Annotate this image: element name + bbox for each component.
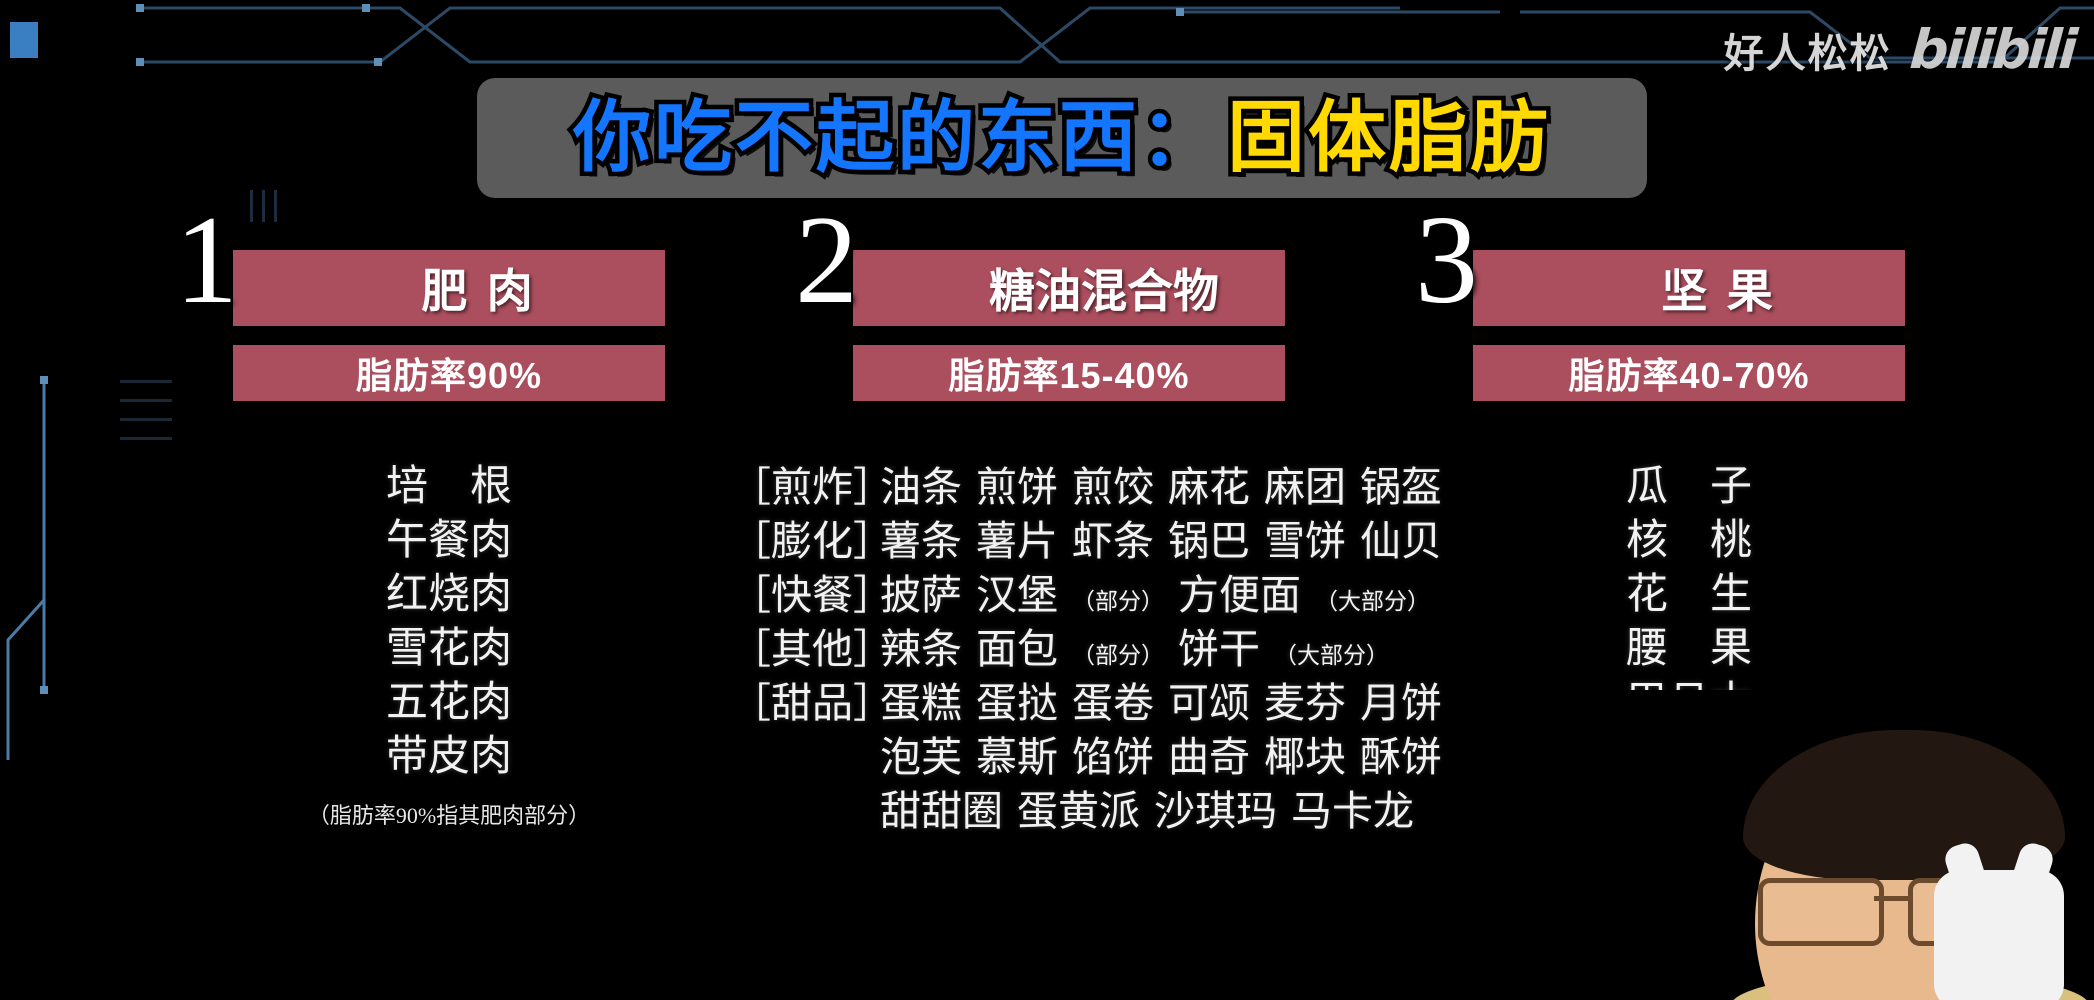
category-number: 3 xyxy=(1415,198,1478,324)
item-name: 辣条 xyxy=(880,626,962,672)
list-item: ［其他］辣条面包（部分）饼干（大部分） xyxy=(730,622,1450,676)
video-frame: 好人松松 bilibili 你吃不起的东西： 固体脂肪 1 肥 肉 脂肪率90%… xyxy=(0,0,2094,1000)
item-category-tag: ［其他］ xyxy=(730,622,880,676)
accent-square-icon xyxy=(10,22,38,58)
item-name: 慕斯 xyxy=(976,734,1058,780)
list-item: 瓜 子 xyxy=(1473,460,1905,514)
list-item: ［煎炸］油条煎饼煎饺麻花麻团锅盔 xyxy=(730,460,1450,514)
item-name: 煎饺 xyxy=(1072,464,1154,510)
list-item: ［甜品］蛋糕蛋挞蛋卷可颂麦芬月饼 xyxy=(730,676,1450,730)
item-name: 饼干 xyxy=(1178,626,1260,672)
category-label: 糖油混合物 xyxy=(853,250,1285,326)
item-name: 油条 xyxy=(880,464,962,510)
item-qualifier: （部分） xyxy=(1072,589,1164,614)
item-name: 披萨 xyxy=(880,572,962,618)
category-label: 坚 果 xyxy=(1473,250,1905,326)
title-part-topic: 固体脂肪 xyxy=(1227,99,1551,177)
item-name: 甜甜圈 xyxy=(880,788,1003,834)
item-name: 月饼 xyxy=(1360,680,1442,726)
item-name: 蛋黄派 xyxy=(1017,788,1140,834)
item-category-tag: ［膨化］ xyxy=(730,514,880,568)
item-name: 馅饼 xyxy=(1072,734,1154,780)
item-name: 泡芙 xyxy=(880,734,962,780)
tick-marks-vertical xyxy=(250,190,277,222)
item-name: 沙琪玛 xyxy=(1154,788,1277,834)
glasses-lens-left xyxy=(1758,878,1884,946)
footnote: （脂肪率90%指其肥肉部分） xyxy=(233,798,665,830)
item-list: 培 根 午餐肉 红烧肉 雪花肉 五花肉 带皮肉 （脂肪率90%指其肥肉部分） xyxy=(233,460,665,830)
item-name: 椰块 xyxy=(1264,734,1346,780)
fat-rate-badge: 脂肪率90% xyxy=(233,345,665,401)
item-name: 锅巴 xyxy=(1168,518,1250,564)
title-part-question: 你吃不起的东西： xyxy=(573,99,1221,177)
item-list: ［煎炸］油条煎饼煎饺麻花麻团锅盔［膨化］薯条薯片虾条锅巴雪饼仙贝［快餐］披萨汉堡… xyxy=(730,460,1450,838)
item-name: 蛋挞 xyxy=(976,680,1058,726)
bilibili-logo: bilibili xyxy=(1907,18,2076,81)
main-title-banner: 你吃不起的东西： 固体脂肪 xyxy=(477,78,1647,198)
item-entries: 蛋糕蛋挞蛋卷可颂麦芬月饼 xyxy=(880,676,1456,730)
list-item: 花 生 xyxy=(1473,568,1905,622)
item-name: 方便面 xyxy=(1178,572,1301,618)
item-qualifier: （部分） xyxy=(1072,643,1164,668)
item-name: 麻团 xyxy=(1264,464,1346,510)
item-entries: 薯条薯片虾条锅巴雪饼仙贝 xyxy=(880,514,1456,568)
item-category-tag: ［煎炸］ xyxy=(730,460,880,514)
category-column-sugar-oil: 2 糖油混合物 脂肪率15-40% ［煎炸］油条煎饼煎饺麻花麻团锅盔［膨化］薯条… xyxy=(853,250,1285,326)
item-name: 仙贝 xyxy=(1360,518,1442,564)
item-name: 汉堡 xyxy=(976,572,1058,618)
category-header: 3 坚 果 xyxy=(1473,250,1905,326)
list-item: 培 根 xyxy=(233,460,665,514)
streamer-webcam-overlay xyxy=(1500,690,2094,1000)
item-name: 面包 xyxy=(976,626,1058,672)
item-name: 薯条 xyxy=(880,518,962,564)
item-name: 曲奇 xyxy=(1168,734,1250,780)
list-item: 泡芙慕斯馅饼曲奇椰块酥饼 xyxy=(730,730,1450,784)
list-item: 五花肉 xyxy=(233,676,665,730)
list-item: 雪花肉 xyxy=(233,622,665,676)
item-entries: 甜甜圈蛋黄派沙琪玛马卡龙 xyxy=(880,784,1428,838)
item-name: 蛋卷 xyxy=(1072,680,1154,726)
category-header: 1 肥 肉 xyxy=(233,250,665,326)
item-name: 可颂 xyxy=(1168,680,1250,726)
category-header: 2 糖油混合物 xyxy=(853,250,1285,326)
item-entries: 泡芙慕斯馅饼曲奇椰块酥饼 xyxy=(880,730,1456,784)
item-name: 煎饼 xyxy=(976,464,1058,510)
list-item: ［快餐］披萨汉堡（部分）方便面（大部分） xyxy=(730,568,1450,622)
sticker-icon xyxy=(1934,870,2064,1000)
item-qualifier: （大部分） xyxy=(1274,643,1389,668)
fat-rate-badge: 脂肪率40-70% xyxy=(1473,345,1905,401)
category-label: 肥 肉 xyxy=(233,250,665,326)
item-entries: 披萨汉堡（部分）方便面（大部分） xyxy=(880,568,1444,629)
channel-name: 好人松松 xyxy=(1724,21,1892,79)
item-name: 酥饼 xyxy=(1360,734,1442,780)
item-category-tag: ［快餐］ xyxy=(730,568,880,622)
category-column-fat-meat: 1 肥 肉 脂肪率90% 培 根 午餐肉 红烧肉 雪花肉 五花肉 带皮肉 （脂肪… xyxy=(233,250,665,326)
item-name: 薯片 xyxy=(976,518,1058,564)
item-name: 雪饼 xyxy=(1264,518,1346,564)
list-item: 红烧肉 xyxy=(233,568,665,622)
item-qualifier: （大部分） xyxy=(1315,589,1430,614)
category-number: 2 xyxy=(795,198,858,324)
category-column-nuts: 3 坚 果 脂肪率40-70% 瓜 子 核 桃 花 生 腰 果 巴旦木 扁桃仁 … xyxy=(1473,250,1905,326)
item-name: 锅盔 xyxy=(1360,464,1442,510)
item-name: 马卡龙 xyxy=(1291,788,1414,834)
item-category-tag: ［甜品］ xyxy=(730,676,880,730)
list-item: ［膨化］薯条薯片虾条锅巴雪饼仙贝 xyxy=(730,514,1450,568)
list-item: 午餐肉 xyxy=(233,514,665,568)
list-item: 腰 果 xyxy=(1473,622,1905,676)
list-item: 核 桃 xyxy=(1473,514,1905,568)
item-name: 蛋糕 xyxy=(880,680,962,726)
item-entries: 油条煎饼煎饺麻花麻团锅盔 xyxy=(880,460,1456,514)
list-item: 甜甜圈蛋黄派沙琪玛马卡龙 xyxy=(730,784,1450,838)
item-name: 虾条 xyxy=(1072,518,1154,564)
category-number: 1 xyxy=(175,198,238,324)
fat-rate-badge: 脂肪率15-40% xyxy=(853,345,1285,401)
channel-watermark: 好人松松 bilibili xyxy=(1724,18,2074,81)
item-name: 麻花 xyxy=(1168,464,1250,510)
item-entries: 辣条面包（部分）饼干（大部分） xyxy=(880,622,1403,683)
list-item: 带皮肉 xyxy=(233,730,665,784)
item-name: 麦芬 xyxy=(1264,680,1346,726)
glasses-bridge xyxy=(1874,896,1908,901)
